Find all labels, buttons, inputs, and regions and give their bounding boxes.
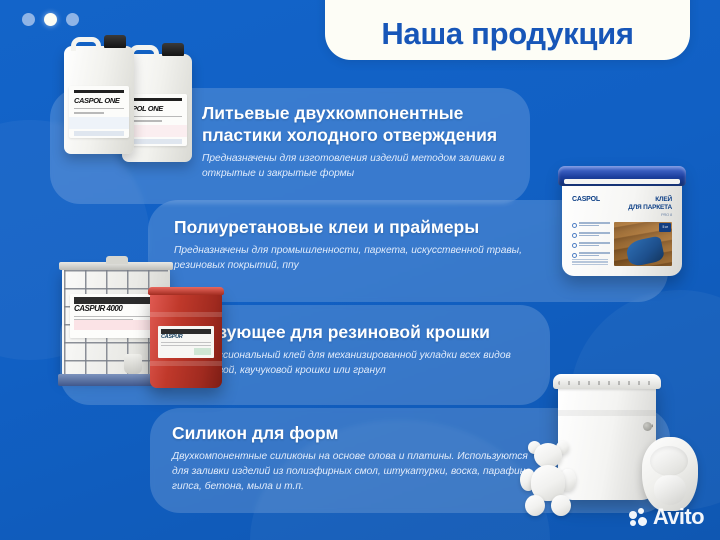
bucket-weight-badge: 5 кг (659, 223, 671, 231)
label-footer-block (74, 131, 124, 136)
ibc-brand: CASPUR 4000 (74, 305, 158, 314)
drum-lid (148, 287, 224, 295)
card-subtitle: Профессиональный клей для механизированн… (185, 349, 535, 379)
avito-logo-icon (629, 508, 648, 527)
window-dots (22, 13, 79, 26)
poster-canvas: Наша продукция Литьевые двухкомпонентные… (0, 0, 720, 540)
bucket-title-line1: КЛЕЙ (628, 196, 672, 204)
ibc-label: CASPUR 4000 (70, 294, 162, 338)
card-title: Полиуретановые клеи и праймеры (174, 216, 544, 238)
plastic-canisters-photo: POL ONE CASPOL ONE (60, 38, 210, 168)
label-tint-block (69, 117, 129, 129)
canister-brand: CASPOL ONE (74, 97, 124, 105)
label-tint-block (194, 348, 211, 355)
bucket-band (558, 410, 656, 416)
feature-text (579, 242, 610, 247)
canister-brand: POL ONE (132, 105, 182, 113)
bucket-rim (553, 374, 661, 389)
avito-wordmark: Avito (653, 506, 704, 528)
feature-bullet-icon (572, 253, 577, 258)
page-title: Наша продукция (381, 16, 633, 52)
feature-bullet-icon (572, 243, 577, 248)
window-dot-middle (44, 13, 57, 26)
bucket-brand: CASPOL (572, 196, 600, 203)
ibc-fill-cap (106, 256, 128, 264)
bucket-feature-item (572, 232, 610, 238)
bucket-footnote (572, 259, 608, 266)
feature-text (579, 222, 610, 227)
card-title: Силикон для форм (172, 422, 547, 444)
label-text-line (132, 120, 162, 122)
page-title-badge: Наша продукция (325, 0, 690, 60)
bucket-title-sub: PRO 8 (628, 212, 672, 217)
card-body: Связующее для резиновой крошки Профессио… (185, 321, 535, 379)
bucket-label: CASPOL КЛЕЙ ДЛЯ ПАРКЕТА PRO 8 (572, 196, 672, 266)
feature-bullet-icon (572, 223, 577, 228)
label-tint-block (127, 125, 187, 137)
red-drum: CASPUR (150, 292, 222, 388)
silicone-bucket-and-molds-photo (520, 372, 700, 517)
label-text-line (132, 116, 182, 118)
label-header-bar (74, 297, 158, 304)
canister-handle (71, 37, 101, 51)
silicone-mold-piece (642, 437, 698, 511)
bucket-feature-item (572, 222, 610, 228)
window-dot-right (66, 13, 79, 26)
card-subtitle: Предназначены для промышленности, паркет… (174, 244, 544, 274)
feature-text (579, 252, 610, 257)
canister-label: POL ONE (127, 94, 187, 146)
feature-bullet-icon (572, 233, 577, 238)
drum-brand: CASPUR (161, 335, 211, 341)
card-title: Связующее для резиновой крошки (185, 321, 535, 343)
label-tint-block (74, 320, 158, 330)
canister-cap (162, 43, 184, 56)
ibc-tote-and-drum-photo: CASPUR 4000 CASPUR (62, 268, 222, 390)
bucket-product-title: КЛЕЙ ДЛЯ ПАРКЕТА PRO 8 (628, 196, 672, 217)
bucket-feature-item (572, 242, 610, 248)
label-text-line (161, 342, 211, 343)
card-body: Полиуретановые клеи и праймеры Предназна… (174, 216, 544, 274)
bear-leg-right (551, 495, 571, 516)
drum-label: CASPUR (158, 326, 214, 358)
parquet-glue-bucket-photo: CASPOL КЛЕЙ ДЛЯ ПАРКЕТА PRO 8 (562, 152, 682, 277)
card-body: Литьевые двухкомпонентные пластики холод… (202, 102, 520, 182)
card-subtitle: Предназначены для изготовления изделий м… (202, 152, 520, 182)
bear-leg-left (525, 495, 545, 516)
bucket-body: CASPOL КЛЕЙ ДЛЯ ПАРКЕТА PRO 8 (562, 166, 682, 276)
label-header-bar (132, 98, 182, 101)
label-footer-block (132, 139, 182, 144)
feature-text (579, 232, 610, 237)
label-header-bar (74, 90, 124, 93)
card-body: Силикон для форм Двухкомпонентные силико… (172, 422, 547, 495)
canister-label: CASPOL ONE (69, 86, 129, 138)
label-text-line (74, 112, 104, 114)
label-text-line (161, 345, 211, 346)
canister-cap (104, 35, 126, 48)
canister-front: CASPOL ONE (64, 46, 134, 154)
bucket-label-header: CASPOL КЛЕЙ ДЛЯ ПАРКЕТА PRO 8 (572, 196, 672, 217)
window-dot-left (22, 13, 35, 26)
bucket-lid (558, 166, 686, 186)
ibc-discharge-valve (124, 354, 142, 374)
bucket-feature-item (572, 252, 610, 258)
label-text-line (74, 316, 158, 317)
label-text-line (74, 108, 124, 110)
bucket-title-line2: ДЛЯ ПАРКЕТА (628, 204, 672, 212)
bucket-parquet-photo: 5 кг (614, 222, 672, 266)
avito-watermark: Avito (629, 506, 704, 528)
card-title: Литьевые двухкомпонентные пластики холод… (202, 102, 520, 146)
card-subtitle: Двухкомпонентные силиконы на основе олов… (172, 450, 547, 494)
silicone-teddy-bear-figure (520, 441, 578, 517)
